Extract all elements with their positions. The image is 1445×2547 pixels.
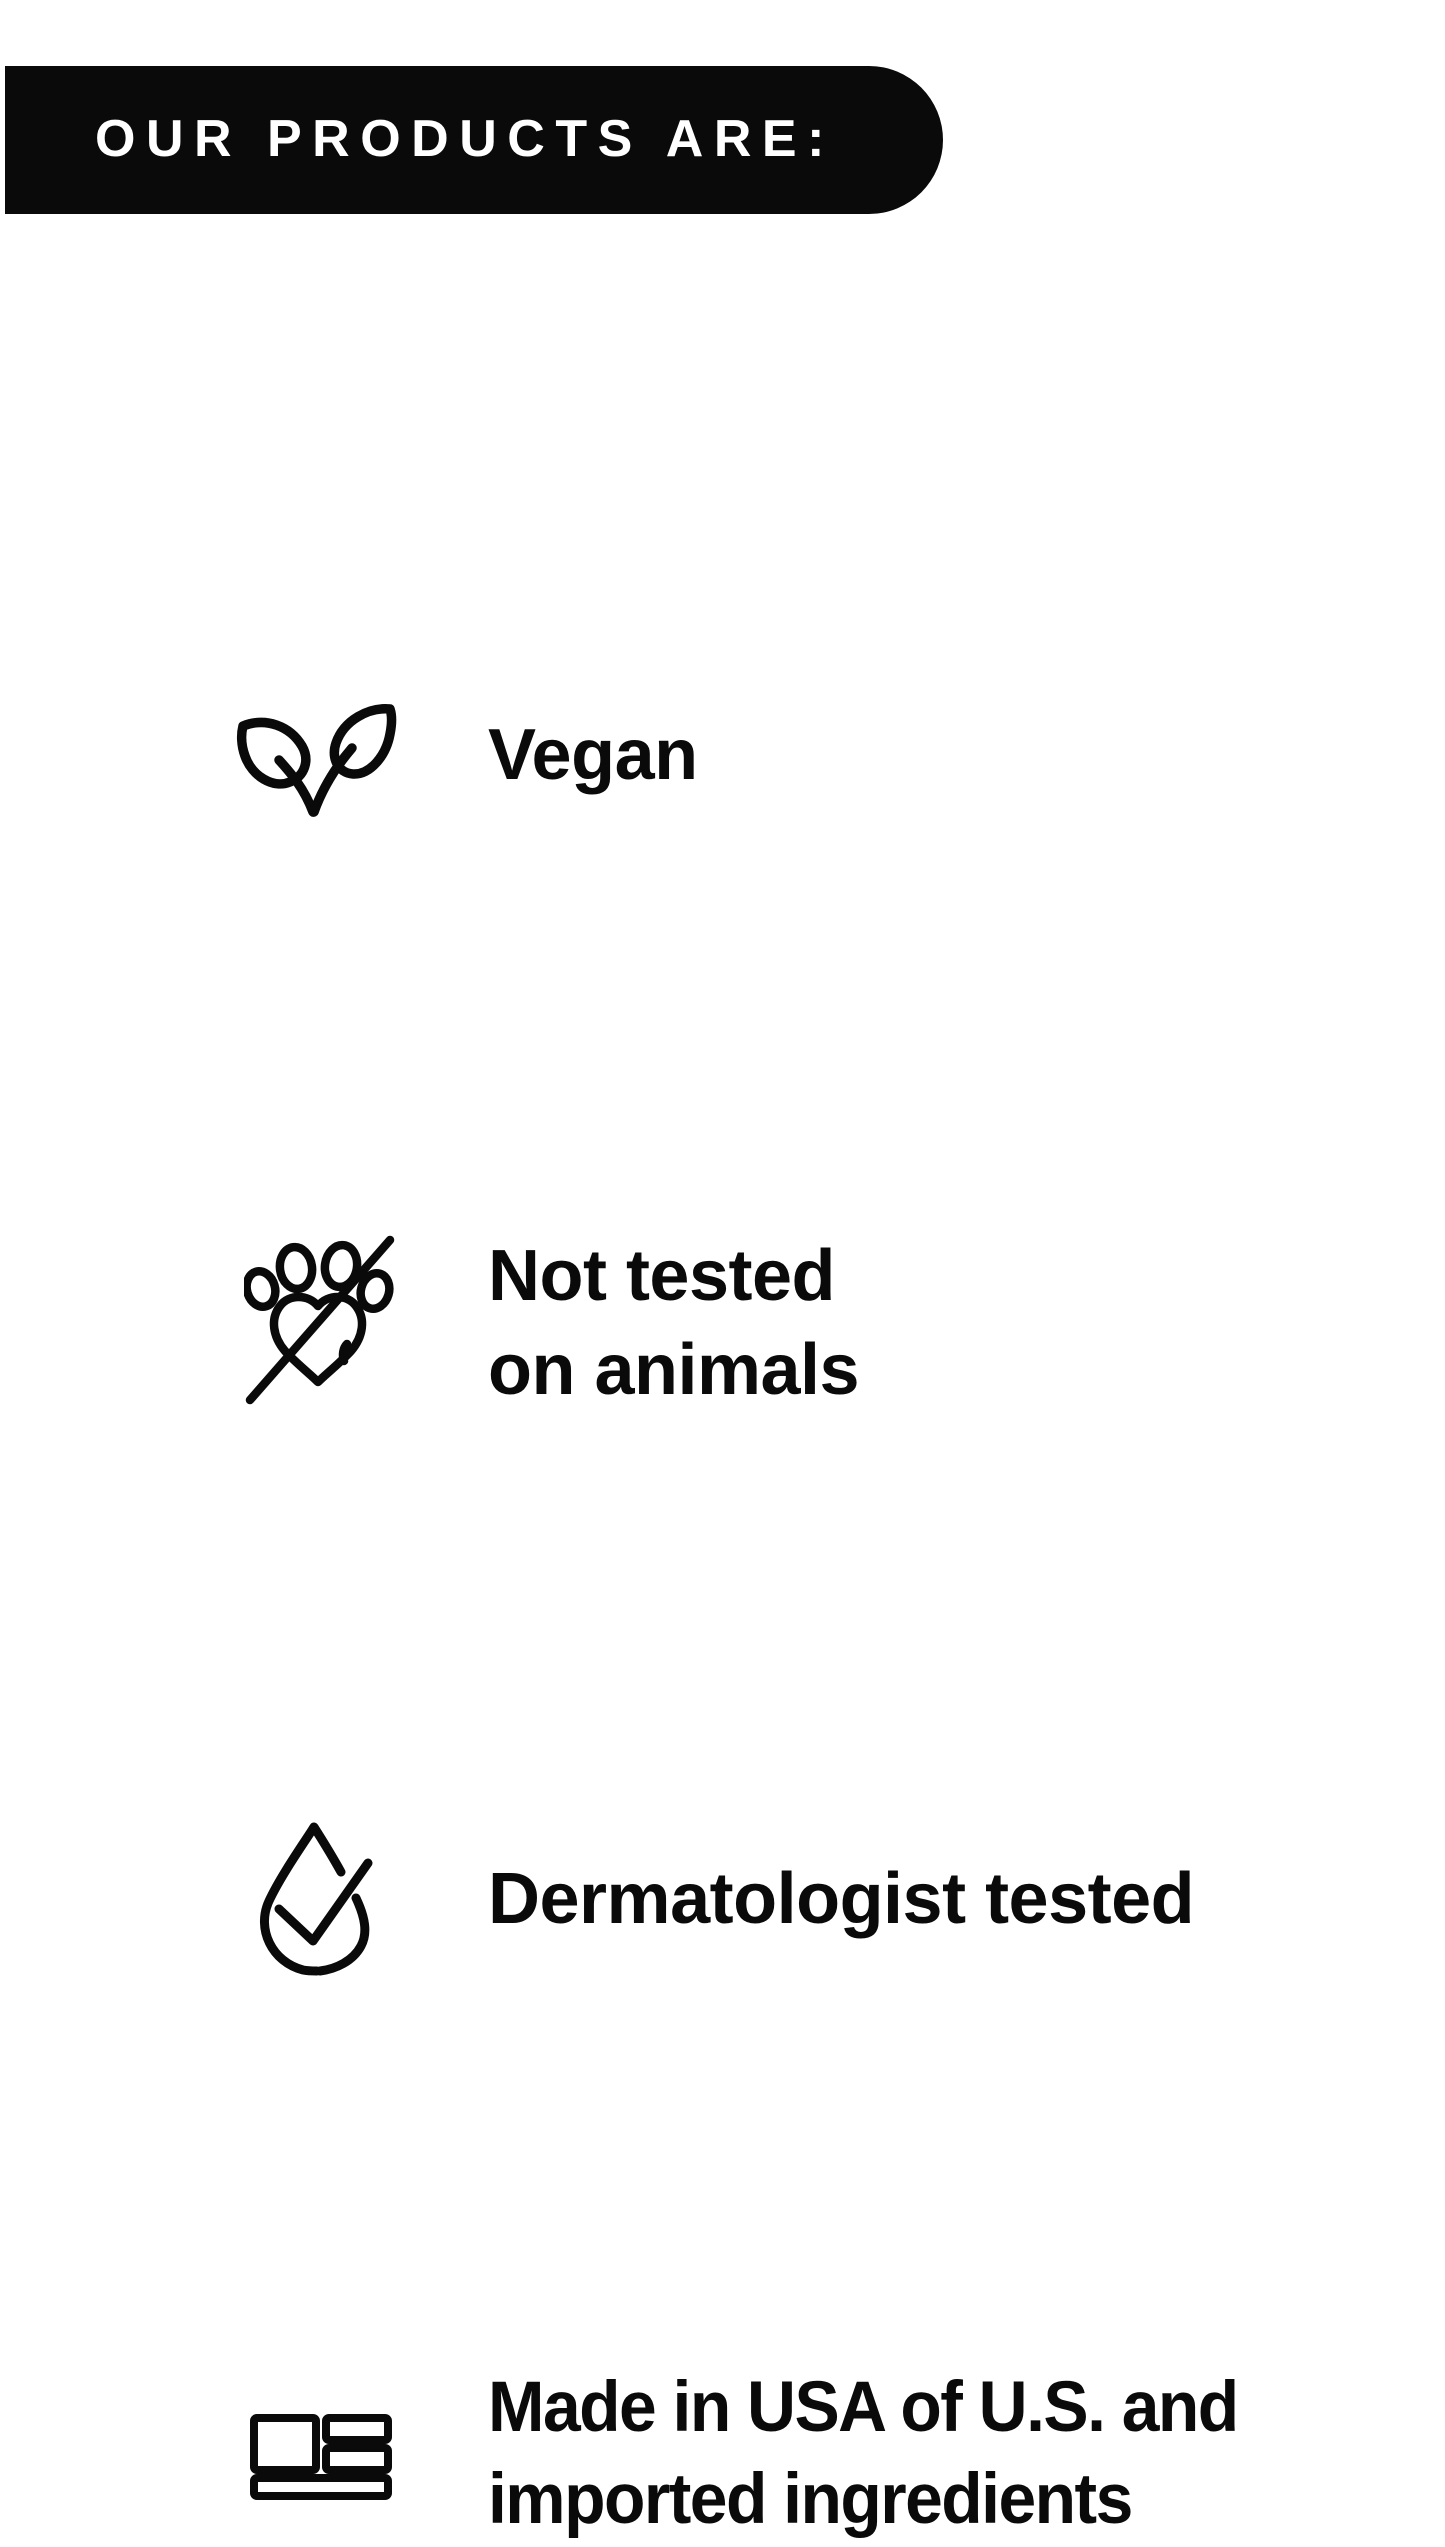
feature-row-vegan: Vegan	[0, 340, 1445, 520]
product-claims-panel: OUR PRODUCTS ARE: Vegan	[0, 0, 1445, 1445]
feature-label-made-in-usa: Made in USA of U.S. and imported ingredi…	[488, 2362, 1238, 2547]
feature-row-not-tested-on-animals: Not tested on animals	[0, 610, 1445, 840]
droplet-check-icon	[252, 1819, 384, 1979]
feature-label-dermatologist-tested: Dermatologist tested	[488, 1853, 1194, 1947]
feature-row-dermatologist-tested: Dermatologist tested	[0, 905, 1445, 1095]
feature-list: Vegan Not tested on anima	[0, 0, 1445, 1445]
usa-flag-icon	[250, 2414, 392, 2500]
feature-row-made-in-usa: Made in USA of U.S. and imported ingredi…	[0, 1180, 1445, 1410]
